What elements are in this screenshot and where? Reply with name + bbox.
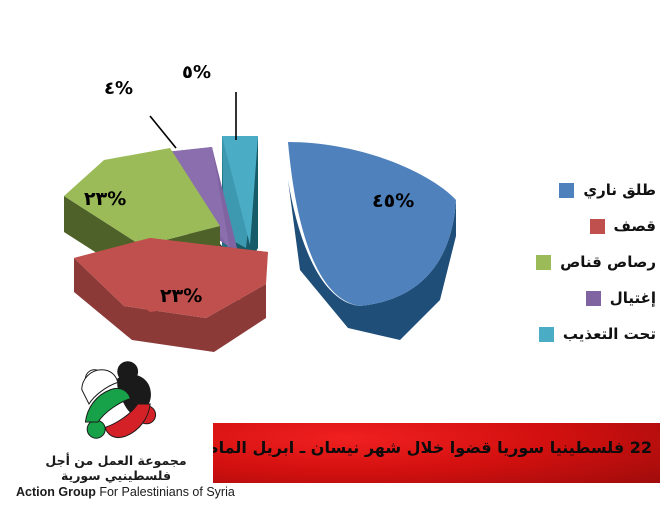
legend-swatch-green <box>536 255 551 270</box>
headline-banner: 22 فلسطينيا سوريا قضوا خلال شهر نيسان ـ … <box>213 423 660 483</box>
slice-label-purple: ٤% <box>104 78 133 99</box>
logo-english-bold: Action Group <box>16 485 96 499</box>
logo-arabic-name: مجموعة العمل من أجل فلسطينيي سورية <box>16 453 216 483</box>
slice-label-blue: ٤٥% <box>372 190 414 212</box>
pie-slice-blue[interactable] <box>288 142 456 340</box>
slice-label-green: ٢٣% <box>84 188 126 210</box>
legend-label-assassination: إغتيال <box>610 289 656 307</box>
chart-legend: طلق ناري قصف رصاص قناص إغتيال تحت التعذي… <box>486 172 656 352</box>
legend-item-torture[interactable]: تحت التعذيب <box>486 316 656 352</box>
headline-text: 22 فلسطينيا سوريا قضوا خلال شهر نيسان ـ … <box>213 438 652 457</box>
legend-swatch-cyan <box>539 327 554 342</box>
legend-swatch-blue <box>559 183 574 198</box>
legend-label-shelling: قصف <box>614 217 656 235</box>
legend-item-shelling[interactable]: قصف <box>486 208 656 244</box>
legend-label-gunfire: طلق ناري <box>583 181 656 199</box>
legend-label-sniper: رصاص قناص <box>560 253 656 271</box>
logo-english-name: Action Group For Palestinians of Syria <box>16 485 216 499</box>
pie-chart: ٤٥% ٢٣% ٢٣% ٤% ٥% <box>0 0 470 400</box>
organization-logo: مجموعة العمل من أجل فلسطينيي سورية Actio… <box>16 358 216 499</box>
slice-label-cyan: ٥% <box>182 62 211 83</box>
group-ring-icon <box>71 358 161 450</box>
legend-swatch-red <box>590 219 605 234</box>
legend-item-assassination[interactable]: إغتيال <box>486 280 656 316</box>
legend-label-torture: تحت التعذيب <box>563 325 656 343</box>
legend-item-sniper[interactable]: رصاص قناص <box>486 244 656 280</box>
infographic-canvas: ٤٥% ٢٣% ٢٣% ٤% ٥% طلق ناري قصف رصاص قناص… <box>0 0 660 520</box>
logo-english-rest: For Palestinians of Syria <box>96 485 235 499</box>
legend-swatch-purple <box>586 291 601 306</box>
legend-item-gunfire[interactable]: طلق ناري <box>486 172 656 208</box>
slice-label-red: ٢٣% <box>160 285 202 307</box>
leader-line-purple <box>150 116 176 148</box>
